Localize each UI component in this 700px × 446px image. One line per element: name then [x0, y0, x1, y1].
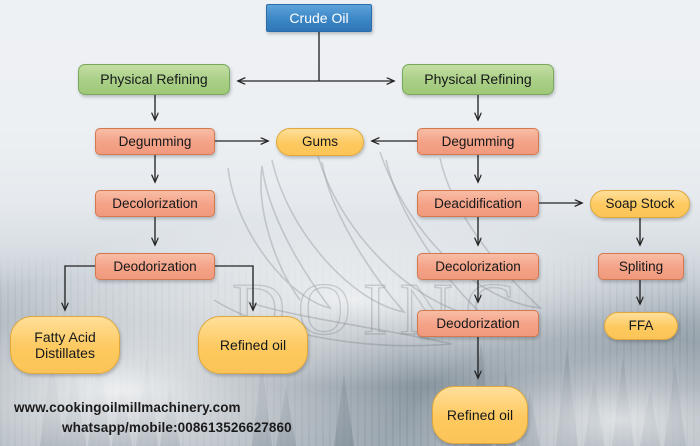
- node-deodorization-right[interactable]: Deodorization: [417, 310, 539, 337]
- node-refined-oil-bottom[interactable]: Refined oil: [432, 386, 528, 444]
- node-physical-right[interactable]: Physical Refining: [402, 64, 554, 95]
- node-degumming-right[interactable]: Degumming: [417, 128, 539, 155]
- contact-info: www.cookingoilmillmachinery.com whatsapp…: [0, 398, 360, 437]
- website-text: www.cookingoilmillmachinery.com: [0, 398, 360, 418]
- phone-text: whatsapp/mobile:008613526627860: [0, 418, 360, 438]
- node-spliting[interactable]: Spliting: [598, 253, 684, 280]
- node-degumming-left[interactable]: Degumming: [95, 128, 215, 155]
- node-refined-oil-left[interactable]: Refined oil: [198, 316, 308, 374]
- node-ffa[interactable]: FFA: [604, 312, 678, 340]
- node-deodorization-left[interactable]: Deodorization: [95, 253, 215, 280]
- node-decolorization-right[interactable]: Decolorization: [417, 253, 539, 280]
- node-decolorization-left[interactable]: Decolorization: [95, 190, 215, 217]
- node-gums[interactable]: Gums: [276, 128, 364, 156]
- node-soap-stock[interactable]: Soap Stock: [590, 190, 690, 218]
- node-fatty-acid[interactable]: Fatty Acid Distillates: [10, 316, 120, 374]
- node-crude-oil[interactable]: Crude Oil: [266, 4, 372, 32]
- node-deacidification[interactable]: Deacidification: [417, 190, 539, 217]
- node-physical-left[interactable]: Physical Refining: [78, 64, 230, 95]
- flowchart-canvas: DOING: [0, 0, 700, 446]
